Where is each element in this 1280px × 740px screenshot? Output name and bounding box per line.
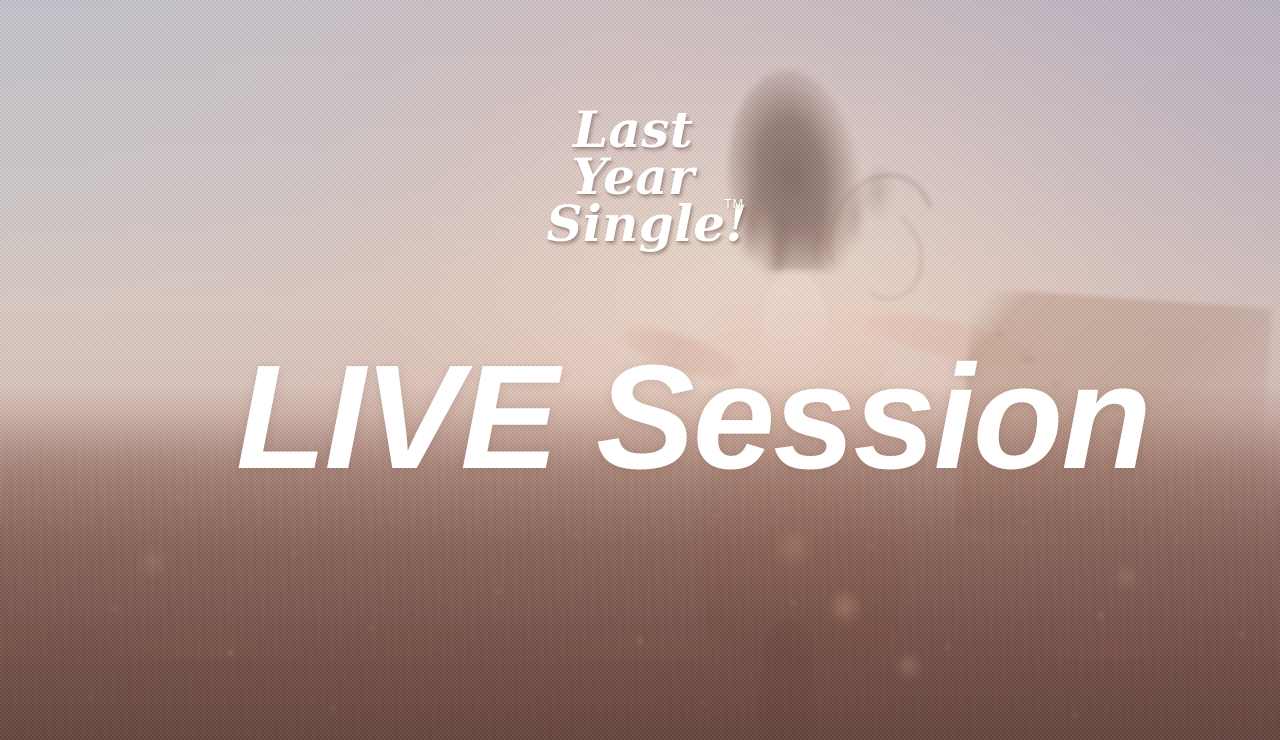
brand-logo: Last Year Single! TM <box>508 106 758 247</box>
headline-live-session: LIVE Session <box>236 344 1150 492</box>
live-session-slide: Last Year Single! TM LIVE Session <box>0 0 1280 740</box>
trademark-symbol: TM <box>724 198 744 210</box>
brand-line-one: Last Year <box>508 106 758 200</box>
